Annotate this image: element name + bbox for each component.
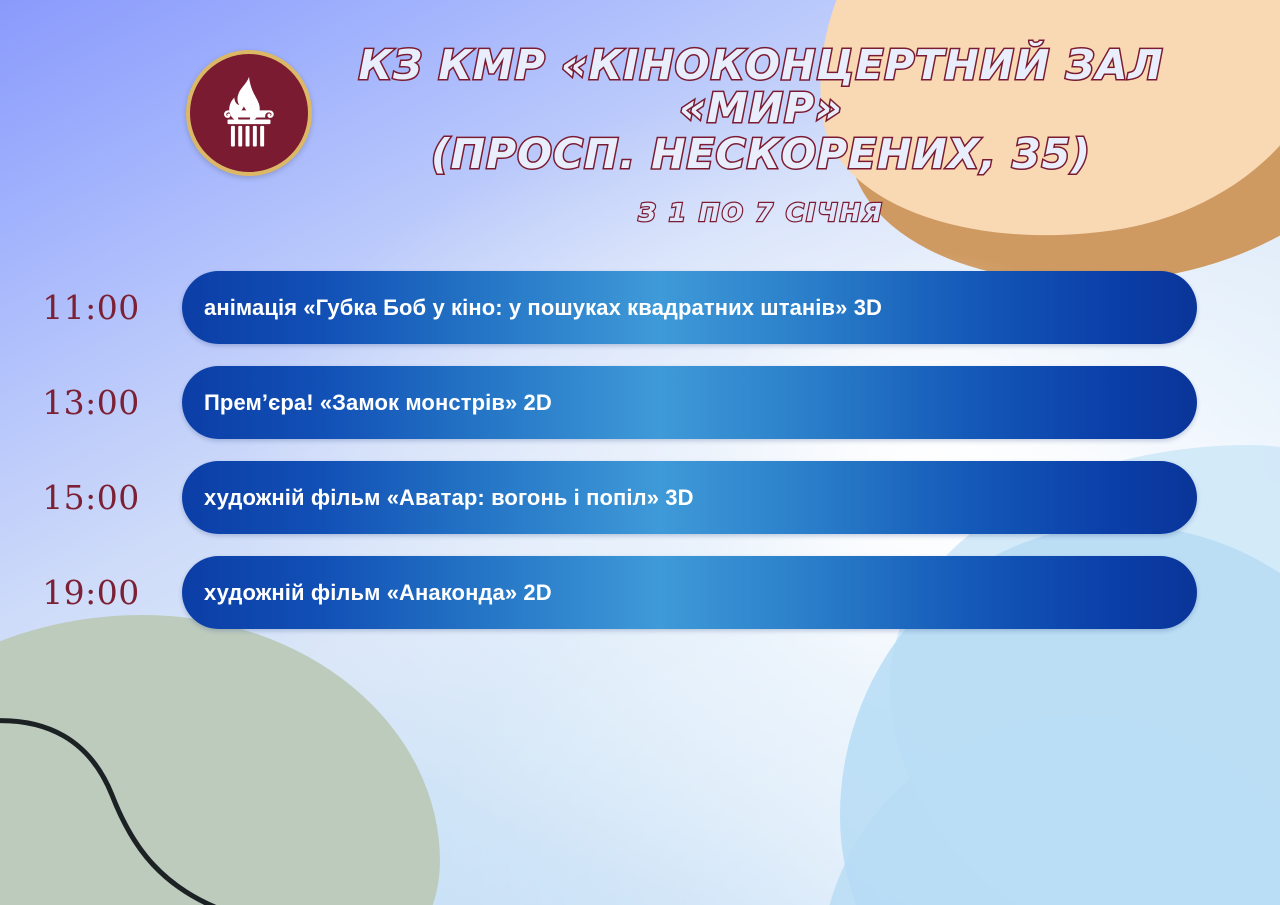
- screening-title: художній фільм «Аватар: вогонь і попіл» …: [182, 485, 694, 511]
- venue-logo: [186, 50, 312, 176]
- poster-header: КЗ КМР «КІНОКОНЦЕРТНИЙ ЗАЛ «МИР» (ПРОСП.…: [0, 0, 1280, 227]
- screening-time: 11:00: [0, 288, 182, 327]
- screening-pill[interactable]: художній фільм «Аватар: вогонь і попіл» …: [182, 461, 1197, 534]
- poster-title-line-2: (ПРОСП. НЕСКОРЕНИХ, 35): [302, 133, 1220, 176]
- header-titles: КЗ КМР «КІНОКОНЦЕРТНИЙ ЗАЛ «МИР» (ПРОСП.…: [302, 44, 1220, 227]
- schedule-row[interactable]: 11:00 анімація «Губка Боб у кіно: у пошу…: [0, 271, 1280, 344]
- screening-title: художній фільм «Анаконда» 2D: [182, 580, 552, 606]
- screening-title: Прем’єра! «Замок монстрів» 2D: [182, 390, 552, 416]
- screening-pill[interactable]: анімація «Губка Боб у кіно: у пошуках кв…: [182, 271, 1197, 344]
- screening-pill[interactable]: Прем’єра! «Замок монстрів» 2D: [182, 366, 1197, 439]
- screening-pill[interactable]: художній фільм «Анаконда» 2D: [182, 556, 1197, 629]
- screening-time: 13:00: [0, 383, 182, 422]
- screening-time: 19:00: [0, 573, 182, 612]
- poster-canvas: КЗ КМР «КІНОКОНЦЕРТНИЙ ЗАЛ «МИР» (ПРОСП.…: [0, 0, 1280, 905]
- schedule-row[interactable]: 15:00 художній фільм «Аватар: вогонь і п…: [0, 461, 1280, 534]
- flame-column-emblem-icon: [206, 70, 292, 156]
- thin-curve-line-icon: [0, 675, 400, 905]
- screening-schedule-list: 11:00 анімація «Губка Боб у кіно: у пошу…: [0, 271, 1280, 629]
- blue-swoosh-back: [820, 715, 1280, 905]
- poster-date-range: З 1 ПО 7 СІЧНЯ: [302, 198, 1220, 227]
- sage-green-blob: [0, 615, 440, 905]
- schedule-row[interactable]: 19:00 художній фільм «Анаконда» 2D: [0, 556, 1280, 629]
- schedule-row[interactable]: 13:00 Прем’єра! «Замок монстрів» 2D: [0, 366, 1280, 439]
- screening-title: анімація «Губка Боб у кіно: у пошуках кв…: [182, 295, 882, 321]
- screening-time: 15:00: [0, 478, 182, 517]
- poster-title-line-1: КЗ КМР «КІНОКОНЦЕРТНИЙ ЗАЛ «МИР»: [302, 44, 1220, 131]
